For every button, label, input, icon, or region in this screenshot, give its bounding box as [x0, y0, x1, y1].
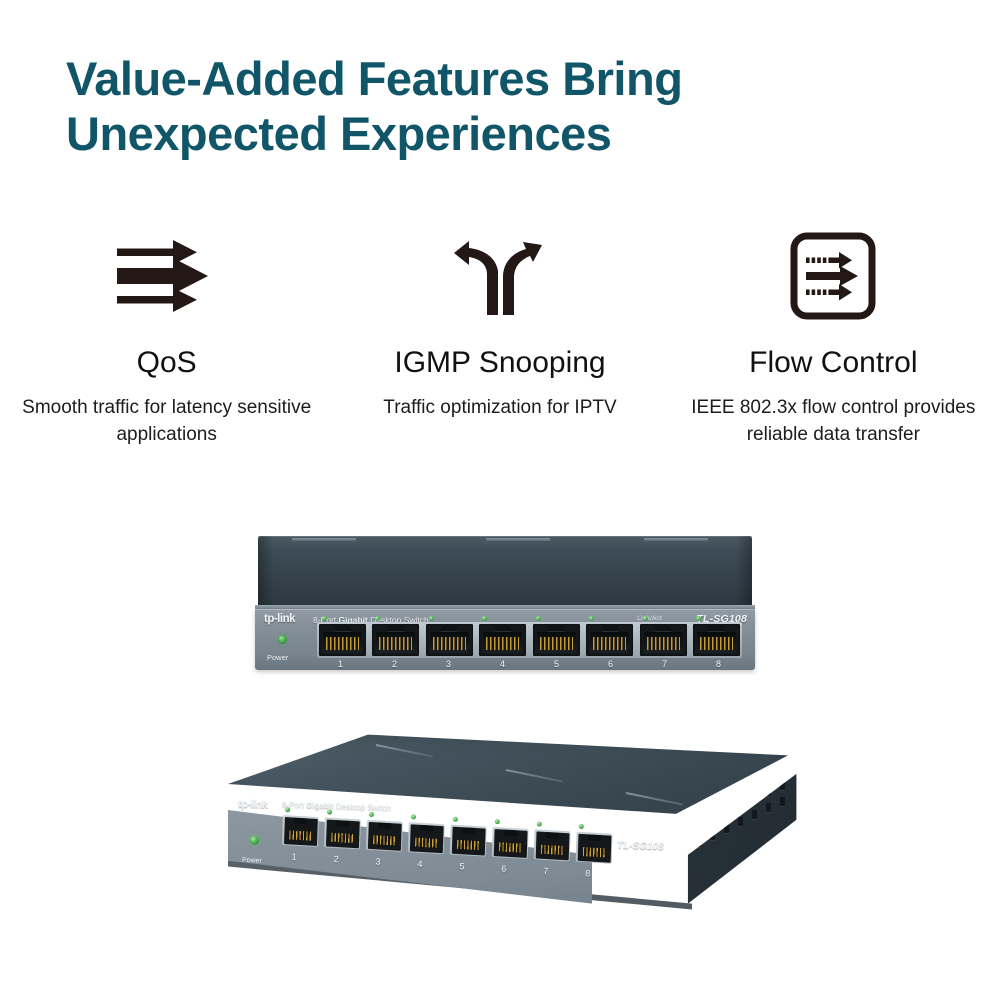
page-title-line-1: Value-Added Features Bring: [66, 52, 946, 107]
port-number: 5: [533, 659, 580, 669]
feature-item-flow-control: Flow Control IEEE 802.3x flow control pr…: [667, 222, 1000, 449]
rj45-port: [426, 624, 473, 656]
rj45-port-bank-angled: 1 2 3 4 5 6 7 8: [281, 815, 613, 894]
port-number: 6: [501, 863, 506, 873]
rj45-port: [282, 815, 319, 847]
rj45-port: [534, 829, 571, 861]
port-number: 3: [375, 856, 380, 866]
product-image-stage: tp-link 8-Port Gigabit Desktop Switch Li…: [0, 500, 1000, 1000]
rj45-port: [324, 817, 361, 849]
rj45-port: [693, 624, 740, 656]
rj45-port: [492, 827, 529, 859]
port-number: 2: [371, 659, 418, 669]
port-number: 7: [641, 659, 688, 669]
rj45-port: [640, 624, 687, 656]
rj45-port: [372, 624, 419, 656]
port-number: 5: [459, 861, 464, 871]
feature-title-flow-control: Flow Control: [749, 346, 917, 379]
branching-arrows-icon: [454, 222, 546, 330]
power-label: Power: [267, 653, 288, 662]
switch-top-lid: [258, 536, 752, 608]
port-number: 1: [317, 659, 364, 669]
feature-item-qos: QoS Smooth traffic for latency sensitive…: [0, 222, 333, 449]
rj45-port: [366, 820, 403, 852]
brand-logo-angled: tp-link: [238, 798, 268, 811]
feature-title-igmp-snooping: IGMP Snooping: [394, 346, 605, 379]
port-number: 8: [585, 868, 590, 878]
power-led-indicator-angled: [250, 836, 259, 845]
rj45-port: [576, 832, 613, 864]
port-number: 7: [543, 866, 548, 876]
port-number: 6: [587, 659, 634, 669]
feature-desc-igmp-snooping: Traffic optimization for IPTV: [367, 395, 632, 422]
product-switch-angled-view: tp-link 8-Port Gigabit Desktop Switch Li…: [228, 732, 808, 927]
feature-item-igmp-snooping: IGMP Snooping Traffic optimization for I…: [333, 222, 666, 422]
port-number: 1: [291, 852, 296, 862]
feature-list: QoS Smooth traffic for latency sensitive…: [0, 222, 1000, 449]
feature-title-qos: QoS: [137, 346, 197, 379]
port-number: 2: [333, 854, 338, 864]
rj45-port: [450, 825, 487, 857]
rj45-port-bank: [317, 622, 742, 658]
product-switch-front-view: tp-link 8-Port Gigabit Desktop Switch Li…: [255, 536, 755, 672]
feature-desc-flow-control: IEEE 802.3x flow control provides reliab…: [678, 395, 988, 449]
feature-desc-qos: Smooth traffic for latency sensitive app…: [12, 395, 322, 449]
page-title: Value-Added Features Bring Unexpected Ex…: [66, 52, 946, 161]
rj45-port: [586, 624, 633, 656]
page-title-line-2: Unexpected Experiences: [66, 107, 946, 162]
port-number: 3: [425, 659, 472, 669]
power-led-indicator: [278, 635, 287, 644]
port-number: 8: [695, 659, 742, 669]
port-number-labels: 1 2 3 4 5 6 7 8: [317, 659, 742, 669]
brand-logo: tp-link: [264, 613, 295, 625]
three-arrows-icon: [115, 222, 219, 330]
link-act-label: Link/Act: [637, 615, 662, 622]
switch-front-panel: tp-link 8-Port Gigabit Desktop Switch Li…: [255, 609, 755, 670]
rj45-port: [479, 624, 526, 656]
rj45-port: [319, 624, 366, 656]
product-description-angled: 8-Port Gigabit Desktop Switch: [282, 800, 391, 813]
port-number: 4: [479, 659, 526, 669]
product-model-number-angled: TL-SG108: [617, 840, 664, 853]
port-number: 4: [417, 859, 422, 869]
rj45-port: [408, 822, 445, 854]
power-label-angled: Power: [242, 857, 262, 865]
boxed-flow-arrows-icon: [790, 222, 876, 330]
rj45-port: [533, 624, 580, 656]
